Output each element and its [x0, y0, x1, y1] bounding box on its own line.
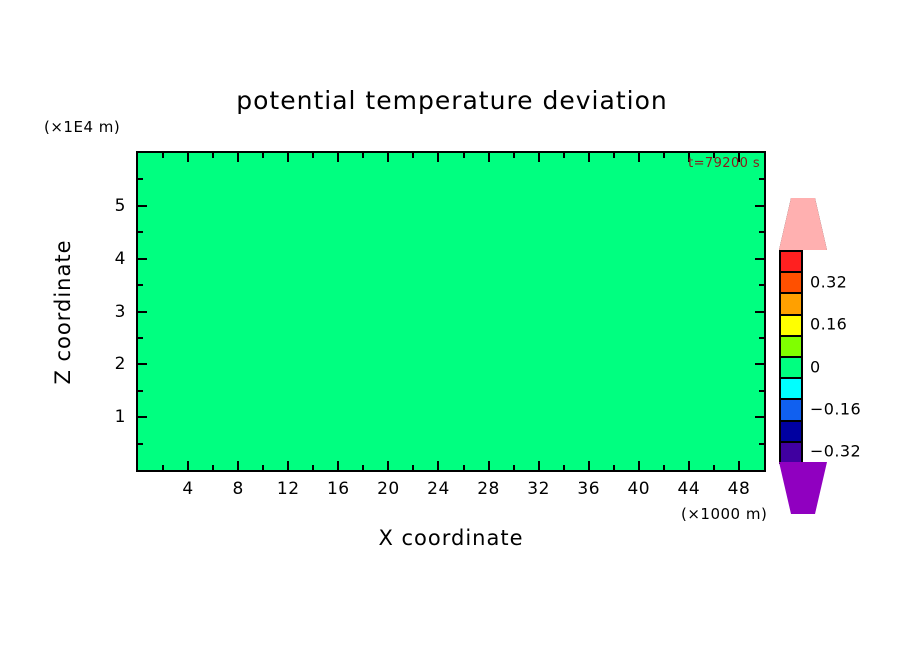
x-axis-unit-label: (×1000 m)	[681, 505, 767, 523]
x-tick-major	[538, 461, 540, 470]
colorbar-label: 0.16	[810, 315, 847, 334]
x-tick-label: 32	[527, 479, 550, 499]
x-tick-label: 48	[728, 479, 751, 499]
colorbar-band	[779, 314, 803, 337]
colorbar-label: −0.32	[810, 442, 861, 461]
x-tick-label: 4	[182, 479, 193, 499]
colorbar-label: −0.16	[810, 400, 861, 419]
x-tick-label: 24	[427, 479, 450, 499]
x-tick-major-top	[237, 153, 239, 162]
x-tick-label: 40	[627, 479, 650, 499]
colorbar-band	[779, 377, 803, 400]
y-tick-minor-right	[759, 178, 764, 180]
y-tick-major-right	[755, 363, 764, 365]
contour-plot-figure: potential temperature deviation (×1E4 m)…	[0, 0, 904, 654]
x-tick-major-top	[287, 153, 289, 162]
x-tick-minor	[463, 465, 465, 470]
x-tick-minor-top	[412, 153, 414, 158]
x-tick-major	[688, 461, 690, 470]
colorbar-label: 0.32	[810, 272, 847, 291]
x-tick-minor	[262, 465, 264, 470]
y-tick-label: 3	[96, 302, 126, 322]
x-tick-label: 12	[277, 479, 300, 499]
x-tick-minor	[713, 465, 715, 470]
colorbar-band	[779, 292, 803, 315]
x-tick-major-top	[588, 153, 590, 162]
y-tick-minor-right	[759, 390, 764, 392]
colorbar-band	[779, 250, 803, 273]
colorbar-cap-top-icon	[779, 198, 827, 250]
y-tick-label: 5	[96, 196, 126, 216]
x-tick-minor-top	[663, 153, 665, 158]
x-tick-minor	[412, 465, 414, 470]
page-title: potential temperature deviation	[0, 86, 904, 115]
colorbar: 0.320.160−0.16−0.32	[779, 198, 805, 514]
x-tick-minor	[362, 465, 364, 470]
x-tick-major	[638, 461, 640, 470]
colorbar-band	[779, 335, 803, 358]
x-tick-minor-top	[162, 153, 164, 158]
y-axis-unit-label: (×1E4 m)	[44, 118, 120, 136]
y-tick-minor-right	[759, 337, 764, 339]
timestamp-annotation: t=79200 s	[688, 156, 760, 171]
x-tick-major	[588, 461, 590, 470]
x-tick-major-top	[638, 153, 640, 162]
x-tick-major-top	[187, 153, 189, 162]
x-tick-major-top	[488, 153, 490, 162]
y-tick-minor	[138, 231, 143, 233]
x-tick-major-top	[387, 153, 389, 162]
y-tick-label: 1	[96, 407, 126, 427]
x-tick-label: 44	[678, 479, 701, 499]
x-tick-label: 36	[577, 479, 600, 499]
contour-field	[138, 153, 764, 470]
y-tick-minor-right	[759, 231, 764, 233]
x-tick-major-top	[437, 153, 439, 162]
x-tick-minor-top	[262, 153, 264, 158]
x-tick-major	[387, 461, 389, 470]
x-tick-minor-top	[513, 153, 515, 158]
x-tick-major	[187, 461, 189, 470]
y-tick-major	[138, 258, 147, 260]
y-axis-title: Z coordinate	[51, 187, 75, 437]
y-tick-minor-right	[759, 443, 764, 445]
y-tick-major	[138, 416, 147, 418]
x-tick-minor	[212, 465, 214, 470]
x-tick-major-top	[538, 153, 540, 162]
y-tick-major	[138, 363, 147, 365]
colorbar-band	[779, 356, 803, 379]
x-tick-minor-top	[362, 153, 364, 158]
y-tick-label: 2	[96, 354, 126, 374]
x-tick-label: 16	[327, 479, 350, 499]
plot-area: t=79200 s	[136, 151, 766, 472]
y-tick-minor	[138, 337, 143, 339]
x-tick-minor-top	[212, 153, 214, 158]
x-tick-minor	[312, 465, 314, 470]
x-axis-title: X coordinate	[136, 526, 766, 550]
x-tick-minor-top	[613, 153, 615, 158]
y-tick-major-right	[755, 311, 764, 313]
colorbar-band	[779, 398, 803, 421]
x-tick-minor	[663, 465, 665, 470]
colorbar-label: 0	[810, 357, 821, 376]
y-tick-minor	[138, 284, 143, 286]
y-tick-minor	[138, 178, 143, 180]
y-tick-minor-right	[759, 284, 764, 286]
x-tick-minor-top	[463, 153, 465, 158]
x-tick-major	[437, 461, 439, 470]
y-tick-major-right	[755, 416, 764, 418]
y-tick-minor	[138, 443, 143, 445]
y-tick-label: 4	[96, 249, 126, 269]
colorbar-band	[779, 420, 803, 443]
x-tick-label: 8	[232, 479, 243, 499]
x-tick-minor	[613, 465, 615, 470]
x-tick-major	[287, 461, 289, 470]
x-tick-label: 28	[477, 479, 500, 499]
y-tick-major	[138, 311, 147, 313]
x-tick-minor	[563, 465, 565, 470]
y-tick-minor	[138, 390, 143, 392]
x-tick-major	[738, 461, 740, 470]
colorbar-band	[779, 441, 803, 464]
colorbar-band	[779, 271, 803, 294]
x-tick-label: 20	[377, 479, 400, 499]
y-tick-major-right	[755, 258, 764, 260]
y-tick-major	[138, 205, 147, 207]
x-tick-minor-top	[563, 153, 565, 158]
colorbar-cap-bottom-icon	[779, 462, 827, 514]
x-tick-major	[337, 461, 339, 470]
x-tick-minor-top	[312, 153, 314, 158]
x-tick-major-top	[337, 153, 339, 162]
x-tick-minor	[513, 465, 515, 470]
x-tick-minor	[162, 465, 164, 470]
x-tick-major	[488, 461, 490, 470]
x-tick-major	[237, 461, 239, 470]
y-tick-major-right	[755, 205, 764, 207]
